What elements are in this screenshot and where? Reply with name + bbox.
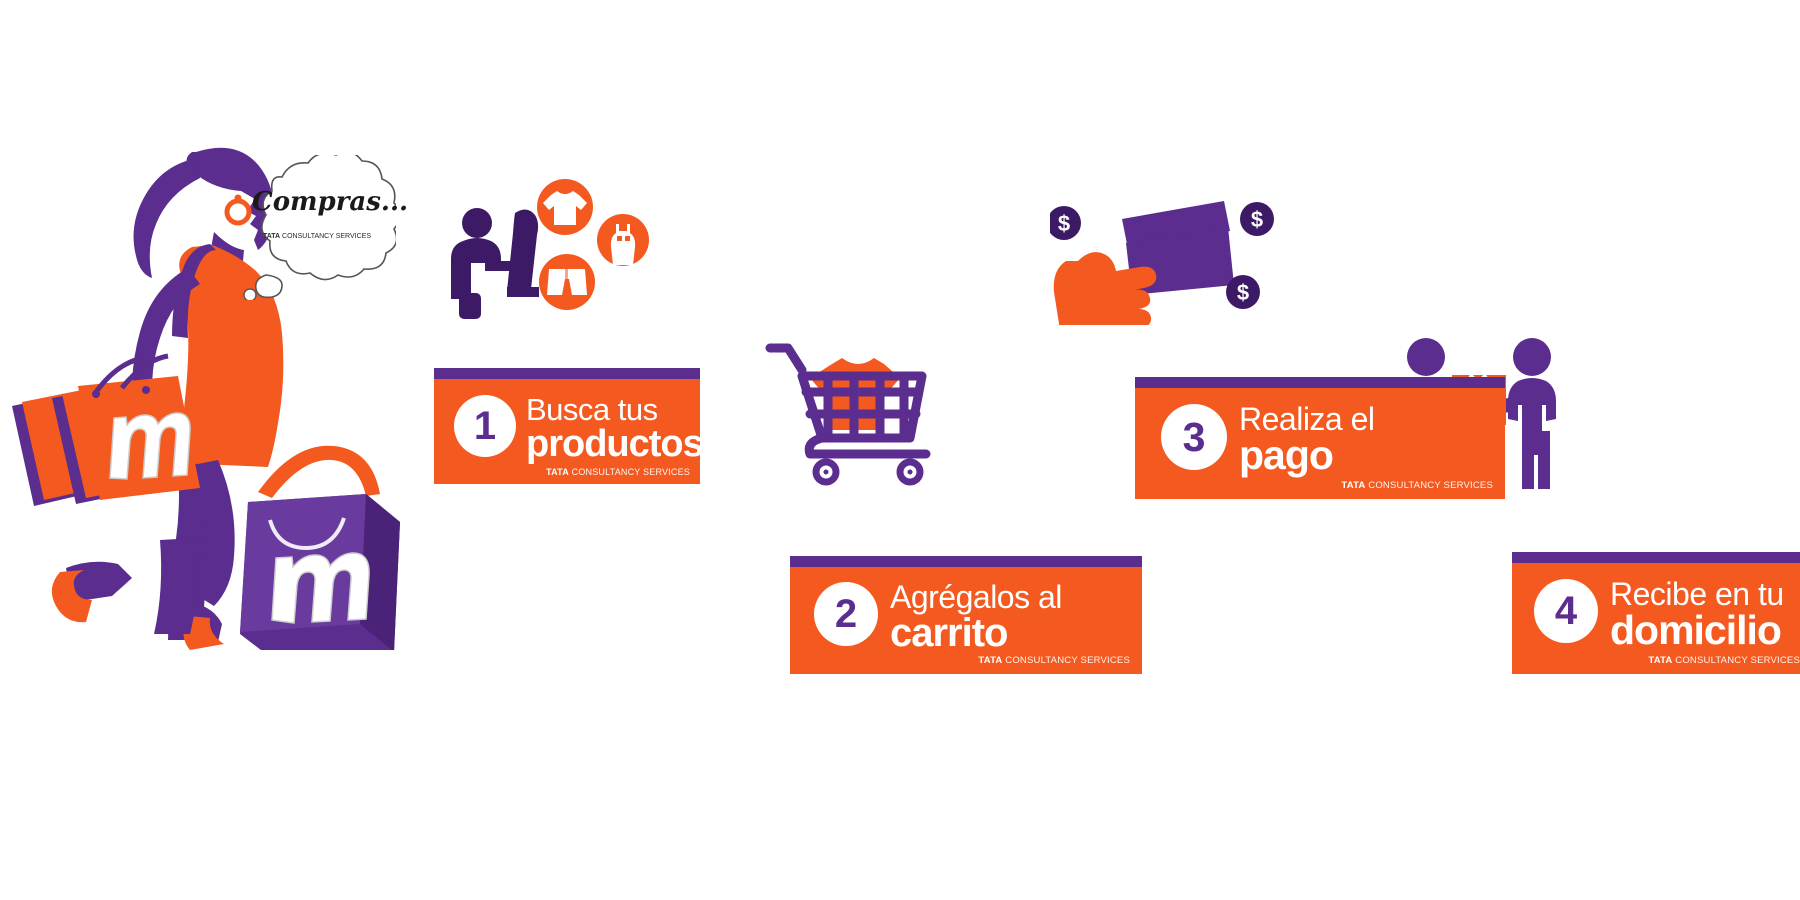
step-label: Agrégalos al carrito [890, 581, 1062, 653]
infographic-canvas: Compras... TATA CONSULTANCY SERVICES [0, 0, 1800, 900]
tata-bold: TATA [1648, 655, 1672, 666]
step-label: Realiza el pago [1239, 403, 1375, 476]
purple-shopping-bag [240, 446, 400, 650]
step-label-line-bottom: carrito [890, 613, 1062, 653]
bubble-shape [262, 155, 396, 280]
thought-bubble: Compras... TATA CONSULTANCY SERVICES [236, 155, 396, 300]
step-label: Recibe en tu domicilio [1610, 578, 1784, 651]
step1-illustration [445, 175, 665, 325]
tata-logo: TATA CONSULTANCY SERVICES [978, 655, 1130, 666]
step-label-line-top: Busca tus [526, 394, 703, 425]
clothing-circle-dress [597, 214, 649, 266]
bubble-tail-small [244, 289, 256, 300]
cart-wheel-right-hub [908, 470, 913, 475]
step-label-line-bottom: pago [1239, 435, 1375, 476]
step2-illustration [760, 330, 950, 490]
tata-logo: TATA CONSULTANCY SERVICES [1648, 655, 1800, 666]
tata-bold: TATA [546, 467, 569, 477]
step-label: Busca tus productos [526, 394, 703, 463]
bubble-tata-rest: CONSULTANCY SERVICES [282, 233, 371, 240]
svg-text:$: $ [1237, 280, 1249, 305]
bubble-text: Compras... [252, 187, 382, 217]
tata-rest: CONSULTANCY SERVICES [572, 467, 690, 477]
step-number-badge: 1 [454, 395, 516, 457]
step-number-badge: 3 [1161, 404, 1227, 470]
tata-bold: TATA [1341, 480, 1365, 491]
tata-rest: CONSULTANCY SERVICES [1675, 655, 1800, 666]
bubble-tail-large [256, 275, 282, 297]
step-banner-3[interactable]: 3 Realiza el pago TATA CONSULTANCY SERVI… [1135, 377, 1505, 499]
banner-top-bar [1512, 552, 1800, 563]
step-label-line-top: Realiza el [1239, 403, 1375, 435]
step-banner-2[interactable]: 2 Agrégalos al carrito TATA CONSULTANCY … [790, 556, 1142, 674]
step-banner-4[interactable]: 4 Recibe en tu domicilio TATA CONSULTANC… [1512, 552, 1800, 674]
bubble-tata-logo: TATA CONSULTANCY SERVICES [252, 233, 382, 240]
clothing-circle-shorts [539, 254, 595, 310]
person-at-computer-icon [451, 208, 539, 319]
step-label-line-top: Recibe en tu [1610, 578, 1784, 610]
step3-illustration: $ $ $ [1050, 185, 1280, 325]
step-banner-1[interactable]: 1 Busca tus productos TATA CONSULTANCY S… [434, 368, 700, 484]
cart-wheel-left-hub [824, 470, 829, 475]
step-label-line-top: Agrégalos al [890, 581, 1062, 613]
tata-logo: TATA CONSULTANCY SERVICES [546, 467, 690, 477]
tata-rest: CONSULTANCY SERVICES [1368, 480, 1493, 491]
shopping-bags [12, 356, 200, 506]
bubble-tata-bold: TATA [263, 233, 280, 240]
banner-top-bar [790, 556, 1142, 567]
step-label-line-bottom: productos [526, 425, 703, 463]
svg-text:$: $ [1251, 207, 1263, 232]
tata-rest: CONSULTANCY SERVICES [1005, 655, 1130, 666]
step-label-line-bottom: domicilio [1610, 610, 1784, 651]
tata-bold: TATA [978, 655, 1002, 666]
tata-logo: TATA CONSULTANCY SERVICES [1341, 480, 1493, 491]
step-number-badge: 4 [1534, 579, 1598, 643]
clothing-circle-tshirt [537, 179, 593, 235]
banner-top-bar [434, 368, 700, 379]
banner-top-bar [1135, 377, 1505, 388]
svg-text:$: $ [1058, 211, 1070, 236]
step-number-badge: 2 [814, 582, 878, 646]
